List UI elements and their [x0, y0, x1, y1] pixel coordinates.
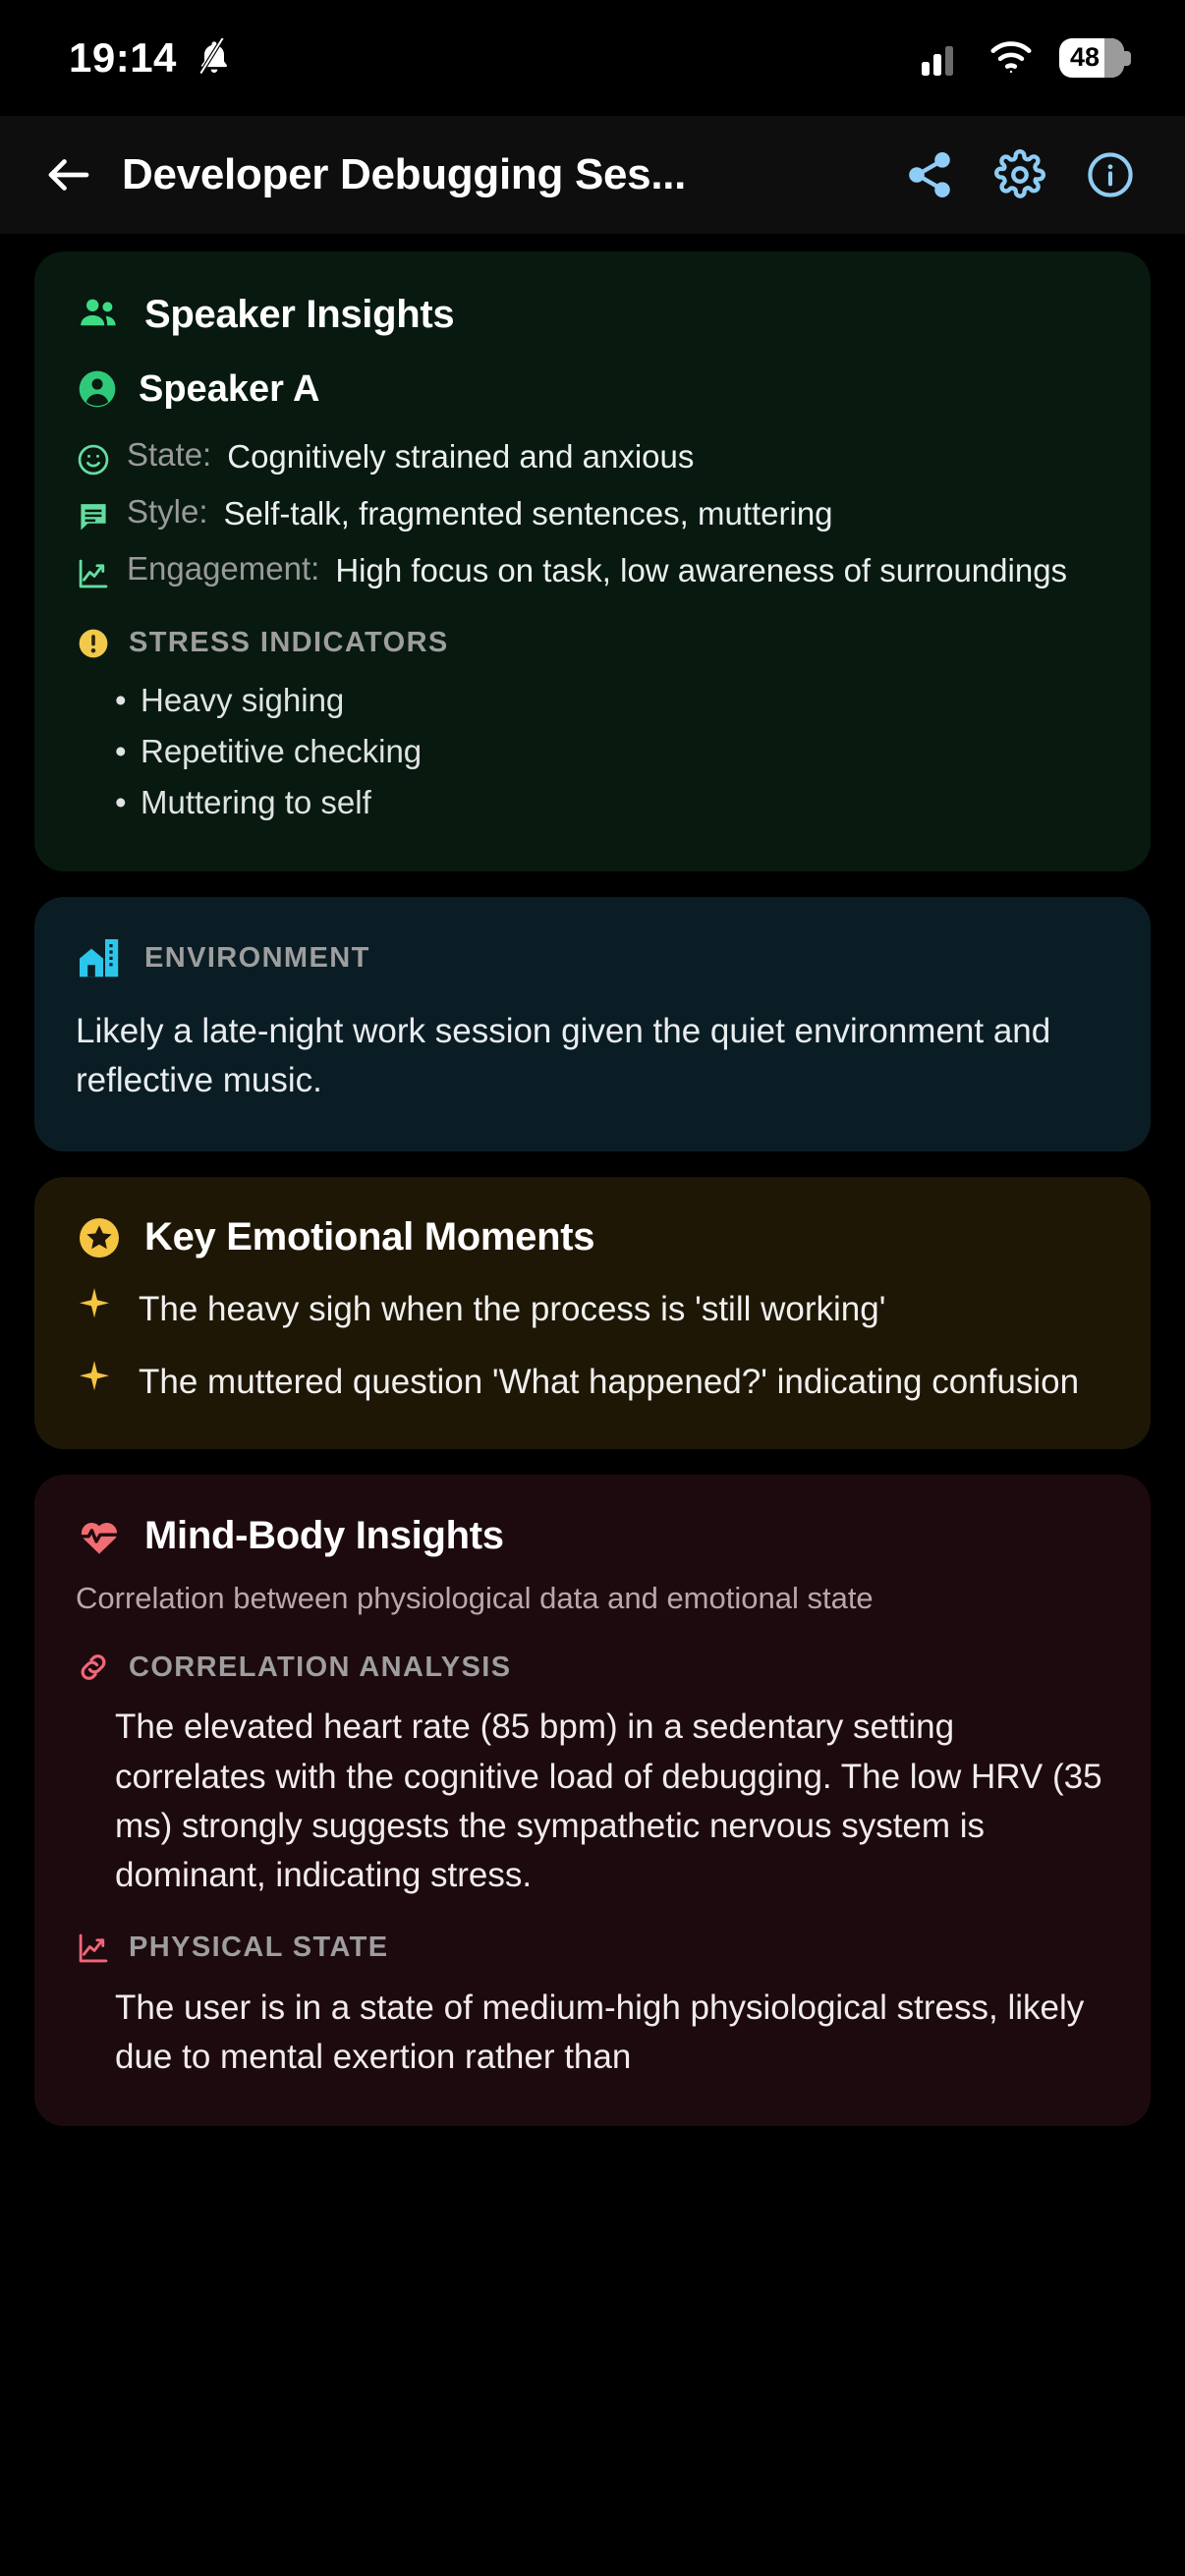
smiley-face-icon: [76, 436, 111, 477]
app-bar-actions: [900, 145, 1140, 204]
detail-row-engagement: Engagement: High focus on task, low awar…: [76, 550, 1109, 591]
key-emotional-moments-title: Key Emotional Moments: [144, 1215, 594, 1260]
detail-value-engagement-line1: High focus on task, low awareness of: [335, 552, 871, 588]
detail-row-state: State: Cognitively strained and anxious: [76, 436, 1109, 477]
speaker-name: Speaker A: [139, 368, 319, 411]
mind-body-insights-card: Mind-Body Insights Correlation between p…: [34, 1475, 1151, 2125]
status-clock: 19:14: [69, 34, 177, 82]
bell-off-icon: [195, 38, 234, 78]
star-circle-icon: [76, 1214, 123, 1261]
heart-pulse-icon: [76, 1512, 123, 1559]
speaker-insights-card: Speaker Insights Speaker A: [34, 252, 1151, 871]
sparkle-icon: [76, 1358, 113, 1395]
detail-value-engagement-line2: surroundings: [879, 552, 1067, 588]
detail-label-style: Style:: [127, 493, 208, 531]
gear-icon[interactable]: [990, 145, 1049, 204]
status-bar-left: 19:14: [69, 34, 234, 82]
alert-circle-icon: [76, 626, 111, 661]
environment-header: ENVIRONMENT: [76, 934, 1109, 981]
physical-state-text: The user is in a state of medium-high ph…: [76, 1984, 1109, 2083]
cellular-signal-icon: [920, 40, 963, 76]
list-item: Muttering to self: [115, 777, 1109, 828]
detail-label-engagement: Engagement:: [127, 550, 319, 588]
mind-body-subtitle: Correlation between physiological data a…: [76, 1581, 1109, 1616]
correlation-analysis-title: CORRELATION ANALYSIS: [129, 1652, 511, 1684]
key-emotional-moments-header: Key Emotional Moments: [76, 1214, 1109, 1261]
status-bar: 19:14 48: [0, 0, 1185, 116]
correlation-analysis-header: CORRELATION ANALYSIS: [76, 1650, 1109, 1685]
scroll-content[interactable]: Speaker Insights Speaker A: [0, 234, 1185, 2126]
stress-indicators-list: Heavy sighing Repetitive checking Mutter…: [76, 675, 1109, 828]
chat-bubble-icon: [76, 493, 111, 534]
line-chart-icon: [76, 1931, 111, 1966]
speaker-insights-title: Speaker Insights: [144, 293, 454, 337]
environment-title: ENVIRONMENT: [144, 942, 370, 975]
environment-text: Likely a late-night work session given t…: [76, 1007, 1109, 1106]
detail-value-style: Self-talk, fragmented sentences, mutteri…: [224, 493, 833, 534]
status-bar-right: 48: [920, 38, 1124, 78]
people-group-icon: [76, 291, 123, 338]
detail-label-state: State:: [127, 436, 211, 474]
mind-body-insights-header: Mind-Body Insights: [76, 1512, 1109, 1559]
info-icon[interactable]: [1081, 145, 1140, 204]
moment-text: The heavy sigh when the process is 'stil…: [139, 1285, 885, 1334]
link-chain-icon: [76, 1650, 111, 1685]
building-house-icon: [76, 934, 123, 981]
list-item: Heavy sighing: [115, 675, 1109, 726]
back-arrow-icon[interactable]: [39, 145, 98, 204]
stress-indicators-header: STRESS INDICATORS: [76, 626, 1109, 661]
app-bar: Developer Debugging Ses...: [0, 116, 1185, 234]
list-item: The heavy sigh when the process is 'stil…: [76, 1285, 1109, 1334]
line-chart-icon: [76, 550, 111, 591]
physical-state-header: PHYSICAL STATE: [76, 1931, 1109, 1966]
battery-indicator: 48: [1059, 38, 1124, 78]
wifi-icon: [988, 40, 1034, 76]
speaker-row: Speaker A: [76, 367, 1109, 411]
moment-text: The muttered question 'What happened?' i…: [139, 1358, 1079, 1407]
sparkle-icon: [76, 1285, 113, 1322]
list-item: The muttered question 'What happened?' i…: [76, 1358, 1109, 1407]
page-title: Developer Debugging Ses...: [122, 150, 900, 199]
mind-body-insights-title: Mind-Body Insights: [144, 1514, 504, 1558]
key-emotional-moments-card: Key Emotional Moments The heavy sigh whe…: [34, 1177, 1151, 1449]
battery-level-label: 48: [1070, 42, 1100, 73]
list-item: Repetitive checking: [115, 726, 1109, 777]
detail-row-style: Style: Self-talk, fragmented sentences, …: [76, 493, 1109, 534]
detail-value-state: Cognitively strained and anxious: [227, 436, 694, 477]
share-icon[interactable]: [900, 145, 959, 204]
environment-card: ENVIRONMENT Likely a late-night work ses…: [34, 897, 1151, 1151]
speaker-insights-header: Speaker Insights: [76, 291, 1109, 338]
stress-indicators-title: STRESS INDICATORS: [129, 627, 449, 659]
detail-value-engagement: High focus on task, low awareness of sur…: [335, 550, 1067, 591]
person-circle-icon: [76, 367, 119, 411]
physical-state-title: PHYSICAL STATE: [129, 1932, 389, 1964]
correlation-analysis-text: The elevated heart rate (85 bpm) in a se…: [76, 1703, 1109, 1901]
